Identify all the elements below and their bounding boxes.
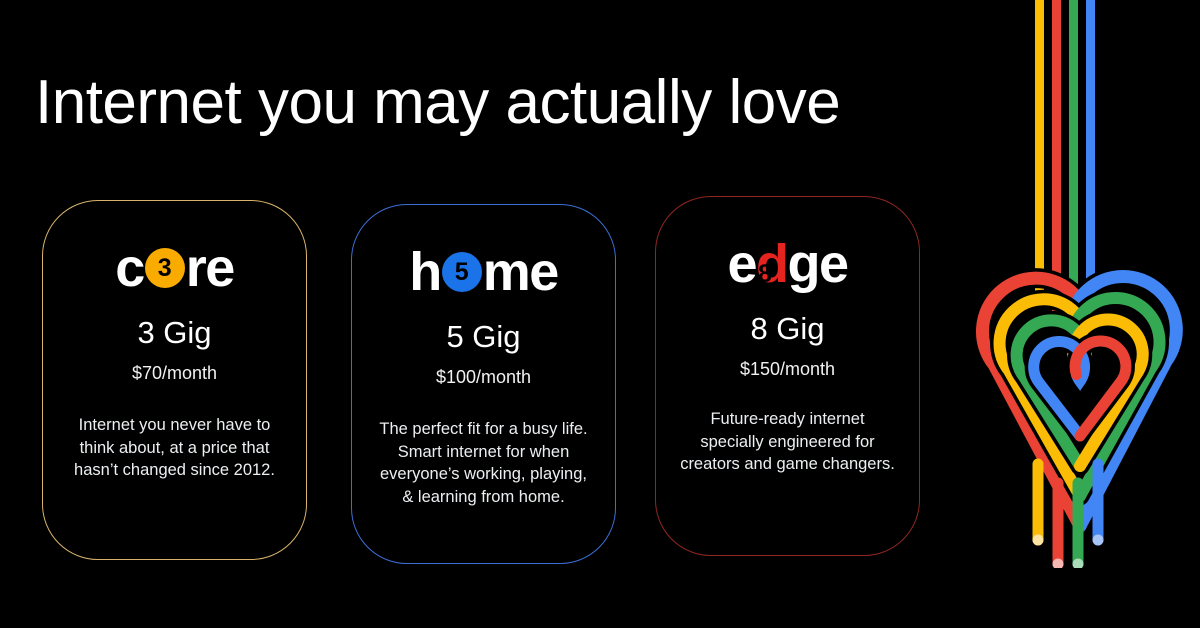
badge-icon-core: 3 — [145, 248, 185, 288]
plan-logo-core: c 3 re — [115, 241, 234, 295]
plan-speed-home: 5 Gig — [446, 321, 520, 352]
plan-speed-edge: 8 Gig — [750, 313, 824, 344]
plan-speed-core: 3 Gig — [137, 317, 211, 348]
logo-suffix-core: re — [186, 241, 234, 295]
plan-card-list: c 3 re 3 Gig $70/month Internet you neve… — [0, 0, 1000, 628]
badge-number-home: 5 — [442, 252, 482, 292]
badge-icon-edge: d 8 — [756, 237, 788, 291]
logo-prefix-core: c — [115, 241, 144, 295]
logo-suffix-edge: ge — [788, 237, 848, 291]
plan-description-home: The perfect fit for a busy life. Smart i… — [376, 418, 591, 508]
plan-logo-edge: e d 8 ge — [727, 237, 847, 291]
plan-card-home[interactable]: h 5 me 5 Gig $100/month The perfect fit … — [351, 204, 616, 564]
logo-prefix-home: h — [409, 245, 441, 299]
plan-price-core: $70/month — [132, 364, 217, 382]
cable-yellow — [1035, 0, 1044, 300]
plan-card-edge[interactable]: e d 8 ge 8 Gig $150/month Future-ready i… — [655, 196, 920, 556]
badge-number-edge: 8 — [758, 262, 772, 287]
logo-prefix-edge: e — [727, 237, 756, 291]
heart-cable-tip — [1033, 535, 1044, 546]
badge-icon-home: 5 — [442, 252, 482, 292]
plan-description-core: Internet you never have to think about, … — [67, 414, 282, 482]
badge-number-core: 3 — [145, 248, 185, 288]
logo-suffix-home: me — [483, 245, 558, 299]
plan-price-home: $100/month — [436, 368, 531, 386]
plan-card-core[interactable]: c 3 re 3 Gig $70/month Internet you neve… — [42, 200, 307, 560]
cable-blue — [1086, 0, 1095, 312]
plan-description-edge: Future-ready internet specially engineer… — [680, 408, 895, 476]
heart-cable-tip — [1093, 535, 1104, 546]
google-fiber-heart-logo — [960, 268, 1200, 568]
plan-logo-home: h 5 me — [409, 245, 558, 299]
plan-price-edge: $150/month — [740, 360, 835, 378]
slide-canvas: Internet you may actually love c 3 re 3 … — [0, 0, 1200, 628]
